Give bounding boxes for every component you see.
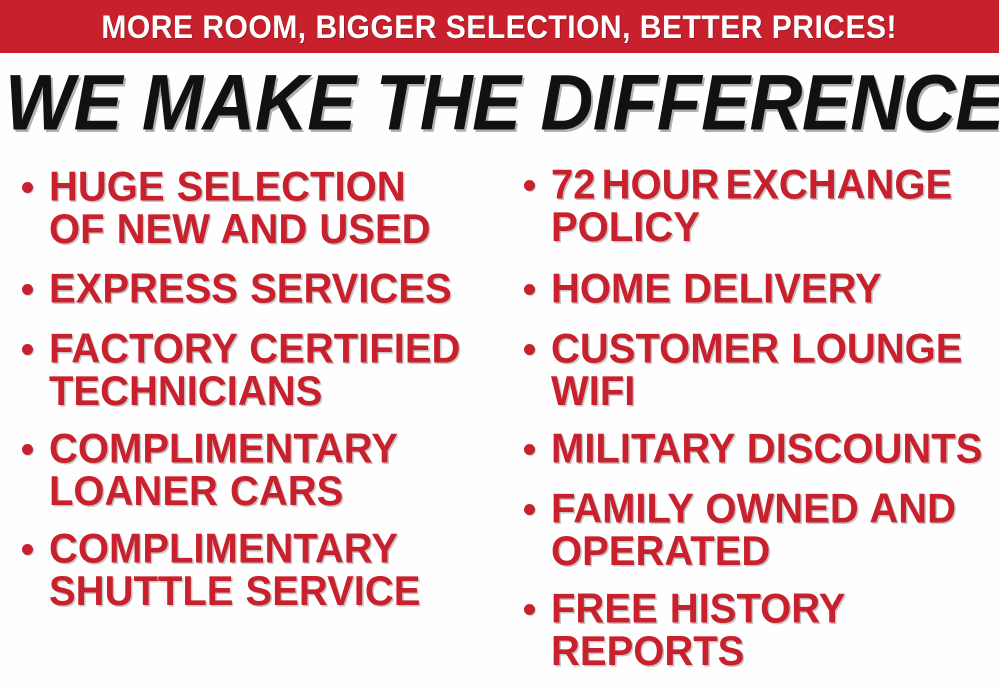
list-item-label: FACTORY CERTIFIED TECHNICIANS — [49, 328, 460, 413]
list-item: COMPLIMENTARY SHUTTLE SERVICE — [22, 528, 420, 610]
bullet-dot-icon — [22, 182, 33, 193]
bullet-dot-icon — [524, 284, 535, 295]
bullet-dot-icon — [22, 544, 33, 555]
list-item-label: COMPLIMENTARY LOANER CARS — [49, 428, 398, 513]
list-item-label: MILITARY DISCOUNTS — [551, 428, 982, 470]
bullet-dot-icon — [524, 444, 535, 455]
list-item: FAMILY OWNED AND OPERATED — [524, 488, 956, 570]
bullet-dot-icon — [22, 444, 33, 455]
bullet-dot-icon — [524, 344, 535, 355]
list-item: FREE HISTORY REPORTS — [524, 588, 845, 670]
bullet-dot-icon — [524, 604, 535, 615]
list-item: EXPRESS SERVICES — [22, 268, 452, 309]
list-item-label: COMPLIMENTARY SHUTTLE SERVICE — [49, 528, 420, 613]
promotional-poster: MORE ROOM, BIGGER SELECTION, BETTER PRIC… — [0, 0, 999, 692]
bullet-dot-icon — [22, 284, 33, 295]
list-item: FACTORY CERTIFIED TECHNICIANS — [22, 328, 460, 410]
list-item: MILITARY DISCOUNTS — [524, 428, 982, 469]
banner-headline-text: MORE ROOM, BIGGER SELECTION, BETTER PRIC… — [102, 11, 898, 43]
list-item: COMPLIMENTARY LOANER CARS — [22, 428, 398, 510]
list-item-label: FREE HISTORY REPORTS — [551, 588, 845, 673]
list-item-label: HUGE SELECTION OF NEW AND USED — [49, 166, 431, 251]
list-item: HUGE SELECTION OF NEW AND USED — [22, 166, 431, 248]
bullet-dot-icon — [524, 180, 535, 191]
bullet-dot-icon — [22, 344, 33, 355]
list-item-label: EXPRESS SERVICES — [49, 268, 452, 310]
list-item-label: 72 HOUR EXCHANGE POLICY — [551, 164, 952, 249]
page-title: WE MAKE THE DIFFERENCE — [5, 64, 994, 142]
bullet-dot-icon — [524, 504, 535, 515]
list-item-label: FAMILY OWNED AND OPERATED — [551, 488, 956, 573]
top-banner: MORE ROOM, BIGGER SELECTION, BETTER PRIC… — [0, 0, 999, 53]
list-item-label: CUSTOMER LOUNGE WIFI — [551, 328, 962, 413]
list-item: HOME DELIVERY — [524, 268, 882, 309]
list-item: 72 HOUR EXCHANGE POLICY — [524, 164, 952, 246]
list-item-label: HOME DELIVERY — [551, 268, 882, 310]
list-item: CUSTOMER LOUNGE WIFI — [524, 328, 962, 410]
